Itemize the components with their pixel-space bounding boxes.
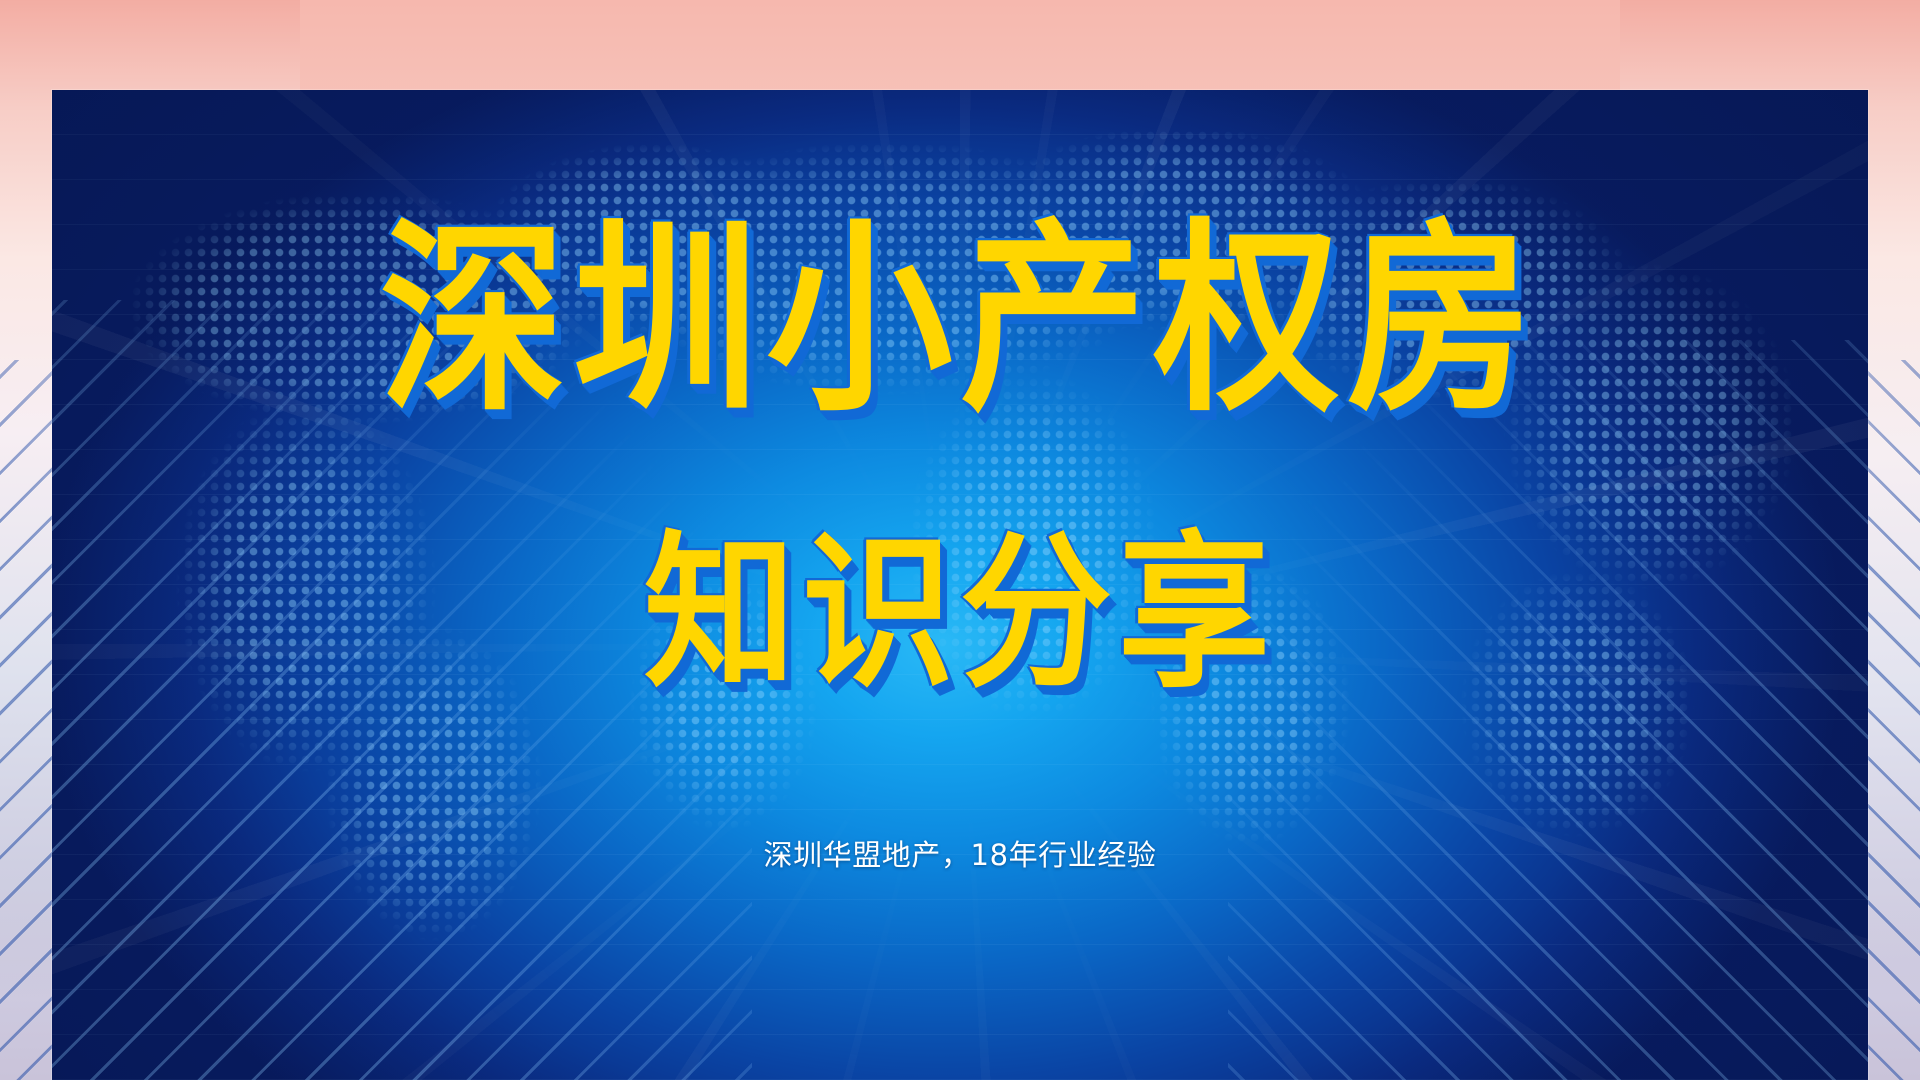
slide-subtitle: 深圳华盟地产，18年行业经验 bbox=[763, 832, 1156, 874]
slide-content: 深圳小产权房 知识分享 深圳华盟地产，18年行业经验 bbox=[52, 90, 1868, 1080]
page-title-line-1: 深圳小产权房 bbox=[380, 218, 1541, 423]
page-title-line-2: 知识分享 bbox=[644, 530, 1276, 697]
slide-stage: 深圳小产权房 知识分享 深圳华盟地产，18年行业经验 bbox=[0, 0, 1920, 1080]
slide-panel: 深圳小产权房 知识分享 深圳华盟地产，18年行业经验 bbox=[52, 90, 1868, 1080]
